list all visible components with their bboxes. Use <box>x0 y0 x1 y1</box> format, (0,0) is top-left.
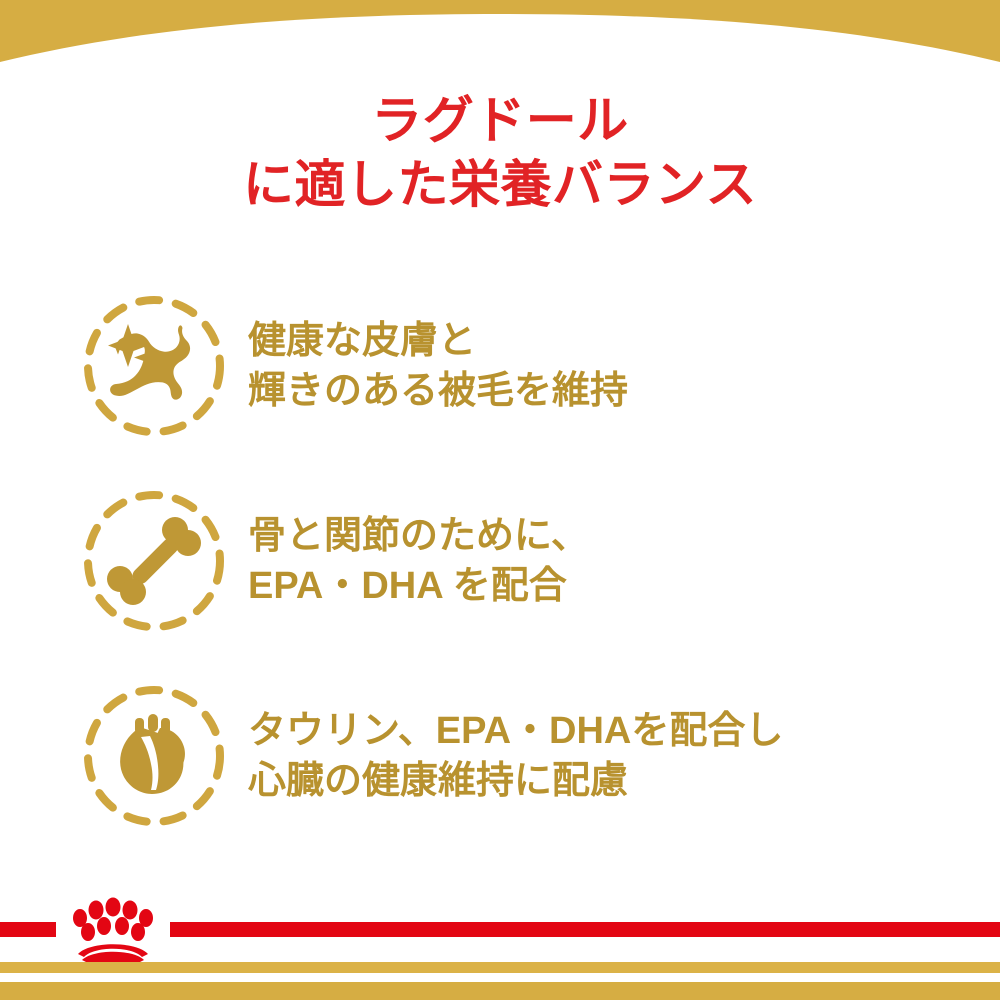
brand-footer <box>0 900 1000 956</box>
feature-text-line-1: 骨と関節のために、 <box>248 511 1000 561</box>
bone-icon <box>78 485 230 637</box>
feature-text-line-2: EPA・DHA を配合 <box>248 561 1000 611</box>
product-info-panel: ラグドール に適した栄養バランス <box>0 0 1000 1000</box>
feature-text-skin-coat: 健康な皮膚と 輝きのある被毛を維持 <box>230 316 1000 416</box>
feature-text-line-1: タウリン、EPA・DHAを配合し <box>248 706 1000 756</box>
feature-text-line-2: 輝きのある被毛を維持 <box>248 366 1000 416</box>
title-line-1: ラグドール <box>0 92 1000 150</box>
gold-bar-thin <box>0 962 1000 973</box>
cat-sparkle-icon <box>78 290 230 442</box>
feature-text-bone-joint: 骨と関節のために、 EPA・DHA を配合 <box>230 511 1000 611</box>
gold-bar-thick <box>0 982 1000 1000</box>
feature-item-bone-joint: 骨と関節のために、 EPA・DHA を配合 <box>0 481 1000 641</box>
feature-text-line-2: 心臓の健康維持に配慮 <box>248 756 1000 806</box>
feature-text-line-1: 健康な皮膚と <box>248 316 1000 366</box>
feature-item-heart-health: タウリン、EPA・DHAを配合し 心臓の健康維持に配慮 <box>0 676 1000 836</box>
feature-text-heart-health: タウリン、EPA・DHAを配合し 心臓の健康維持に配慮 <box>230 706 1000 806</box>
title-line-2: に適した栄養バランス <box>0 156 1000 214</box>
page-title: ラグドール に適した栄養バランス <box>0 92 1000 214</box>
crown-icon <box>56 894 170 962</box>
feature-list: 健康な皮膚と 輝きのある被毛を維持 <box>0 286 1000 836</box>
heart-anatomical-icon <box>78 680 230 832</box>
feature-item-skin-coat: 健康な皮膚と 輝きのある被毛を維持 <box>0 286 1000 446</box>
